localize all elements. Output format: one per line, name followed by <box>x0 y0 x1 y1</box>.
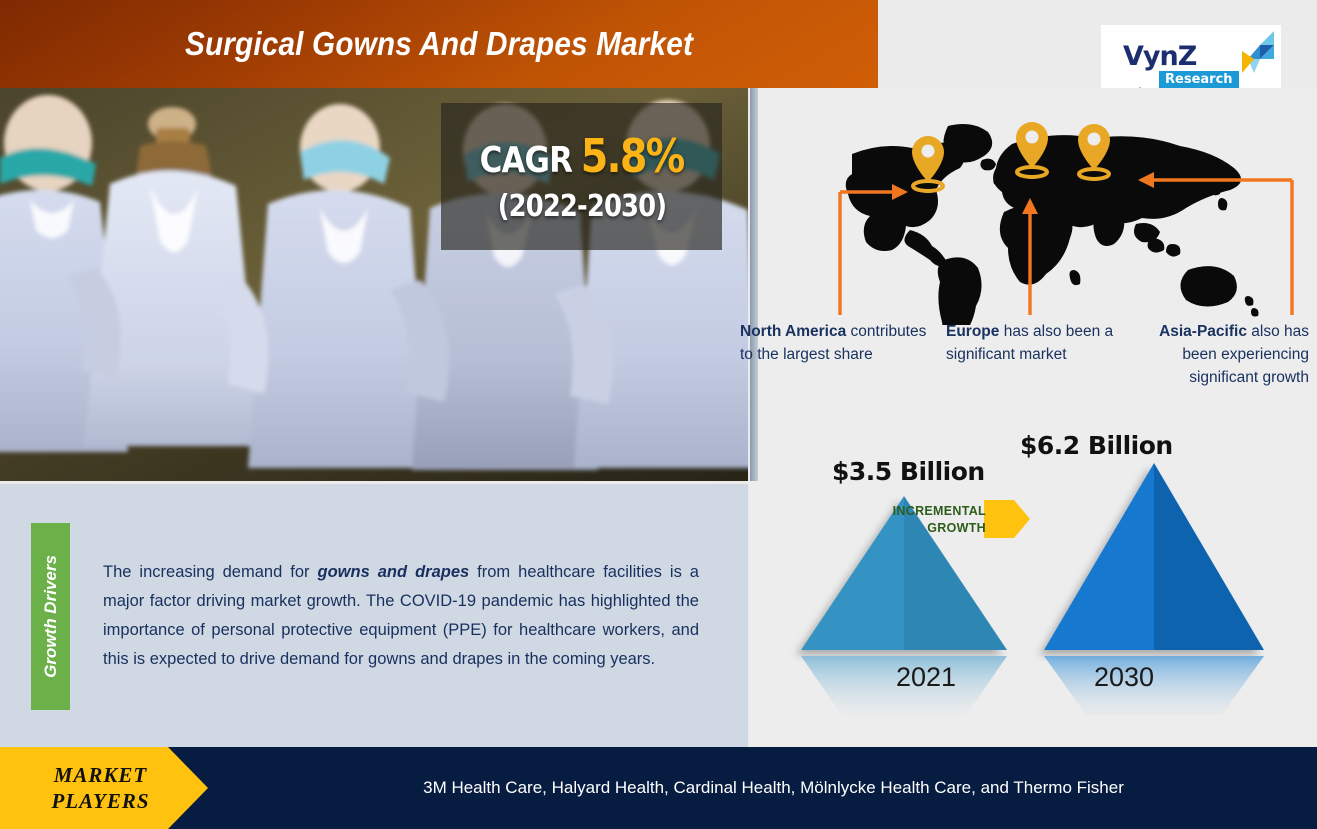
region-name-europe: Europe <box>946 323 999 340</box>
market-size-chart: $3.5 Billion $6.2 Billion 2021 2030 INCR… <box>756 425 1317 715</box>
region-caption-north-america: North America contributes to the largest… <box>740 320 940 366</box>
location-pin-icon <box>912 136 944 191</box>
world-map-svg <box>836 120 1296 325</box>
bar-2030 <box>1044 463 1264 650</box>
infographic-root: Surgical Gowns And Drapes Market VynZ Re… <box>0 0 1317 829</box>
category-label-2030: 2030 <box>1094 662 1154 693</box>
market-players-list: 3M Health Care, Halyard Health, Cardinal… <box>230 747 1317 829</box>
market-players-line2: PLAYERS <box>8 788 193 814</box>
cagr-label: CAGR <box>480 140 573 181</box>
location-pin-icon <box>1016 122 1048 177</box>
region-caption-europe: Europe has also been a significant marke… <box>946 320 1121 366</box>
incremental-growth-arrow-icon <box>984 500 1030 538</box>
region-name-asia-pacific: Asia-Pacific <box>1159 323 1247 340</box>
page-title: Surgical Gowns And Drapes Market <box>44 0 834 88</box>
cagr-value: 5.8% <box>581 129 684 183</box>
region-caption-asia-pacific: Asia-Pacific also has been experiencing … <box>1131 320 1309 389</box>
cagr-period: (2022-2030) <box>497 189 665 224</box>
value-label-2021: $3.5 Billion <box>832 457 985 486</box>
growth-drivers-tab-label: Growth Drivers <box>31 523 70 710</box>
location-pin-icon <box>1078 124 1110 179</box>
cagr-line: CAGR 5.8% <box>480 129 684 183</box>
region-captions: North America contributes to the largest… <box>756 320 1311 425</box>
cagr-badge: CAGR 5.8% (2022-2030) <box>441 103 722 250</box>
market-players-label: MARKET PLAYERS <box>8 762 193 814</box>
logo-brand: VynZ <box>1123 41 1196 72</box>
market-players-line1: MARKET <box>8 762 193 788</box>
category-label-2021: 2021 <box>896 662 956 693</box>
world-map <box>836 120 1296 325</box>
drivers-text-emphasis: gowns and drapes <box>318 563 470 581</box>
incremental-growth-label: INCREMENTAL GROWTH <box>856 503 986 537</box>
growth-drivers-text: The increasing demand for gowns and drap… <box>103 558 699 674</box>
drivers-text-part1: The increasing demand for <box>103 563 318 581</box>
region-name-north-america: North America <box>740 323 846 340</box>
value-label-2030: $6.2 Billion <box>1020 431 1173 460</box>
